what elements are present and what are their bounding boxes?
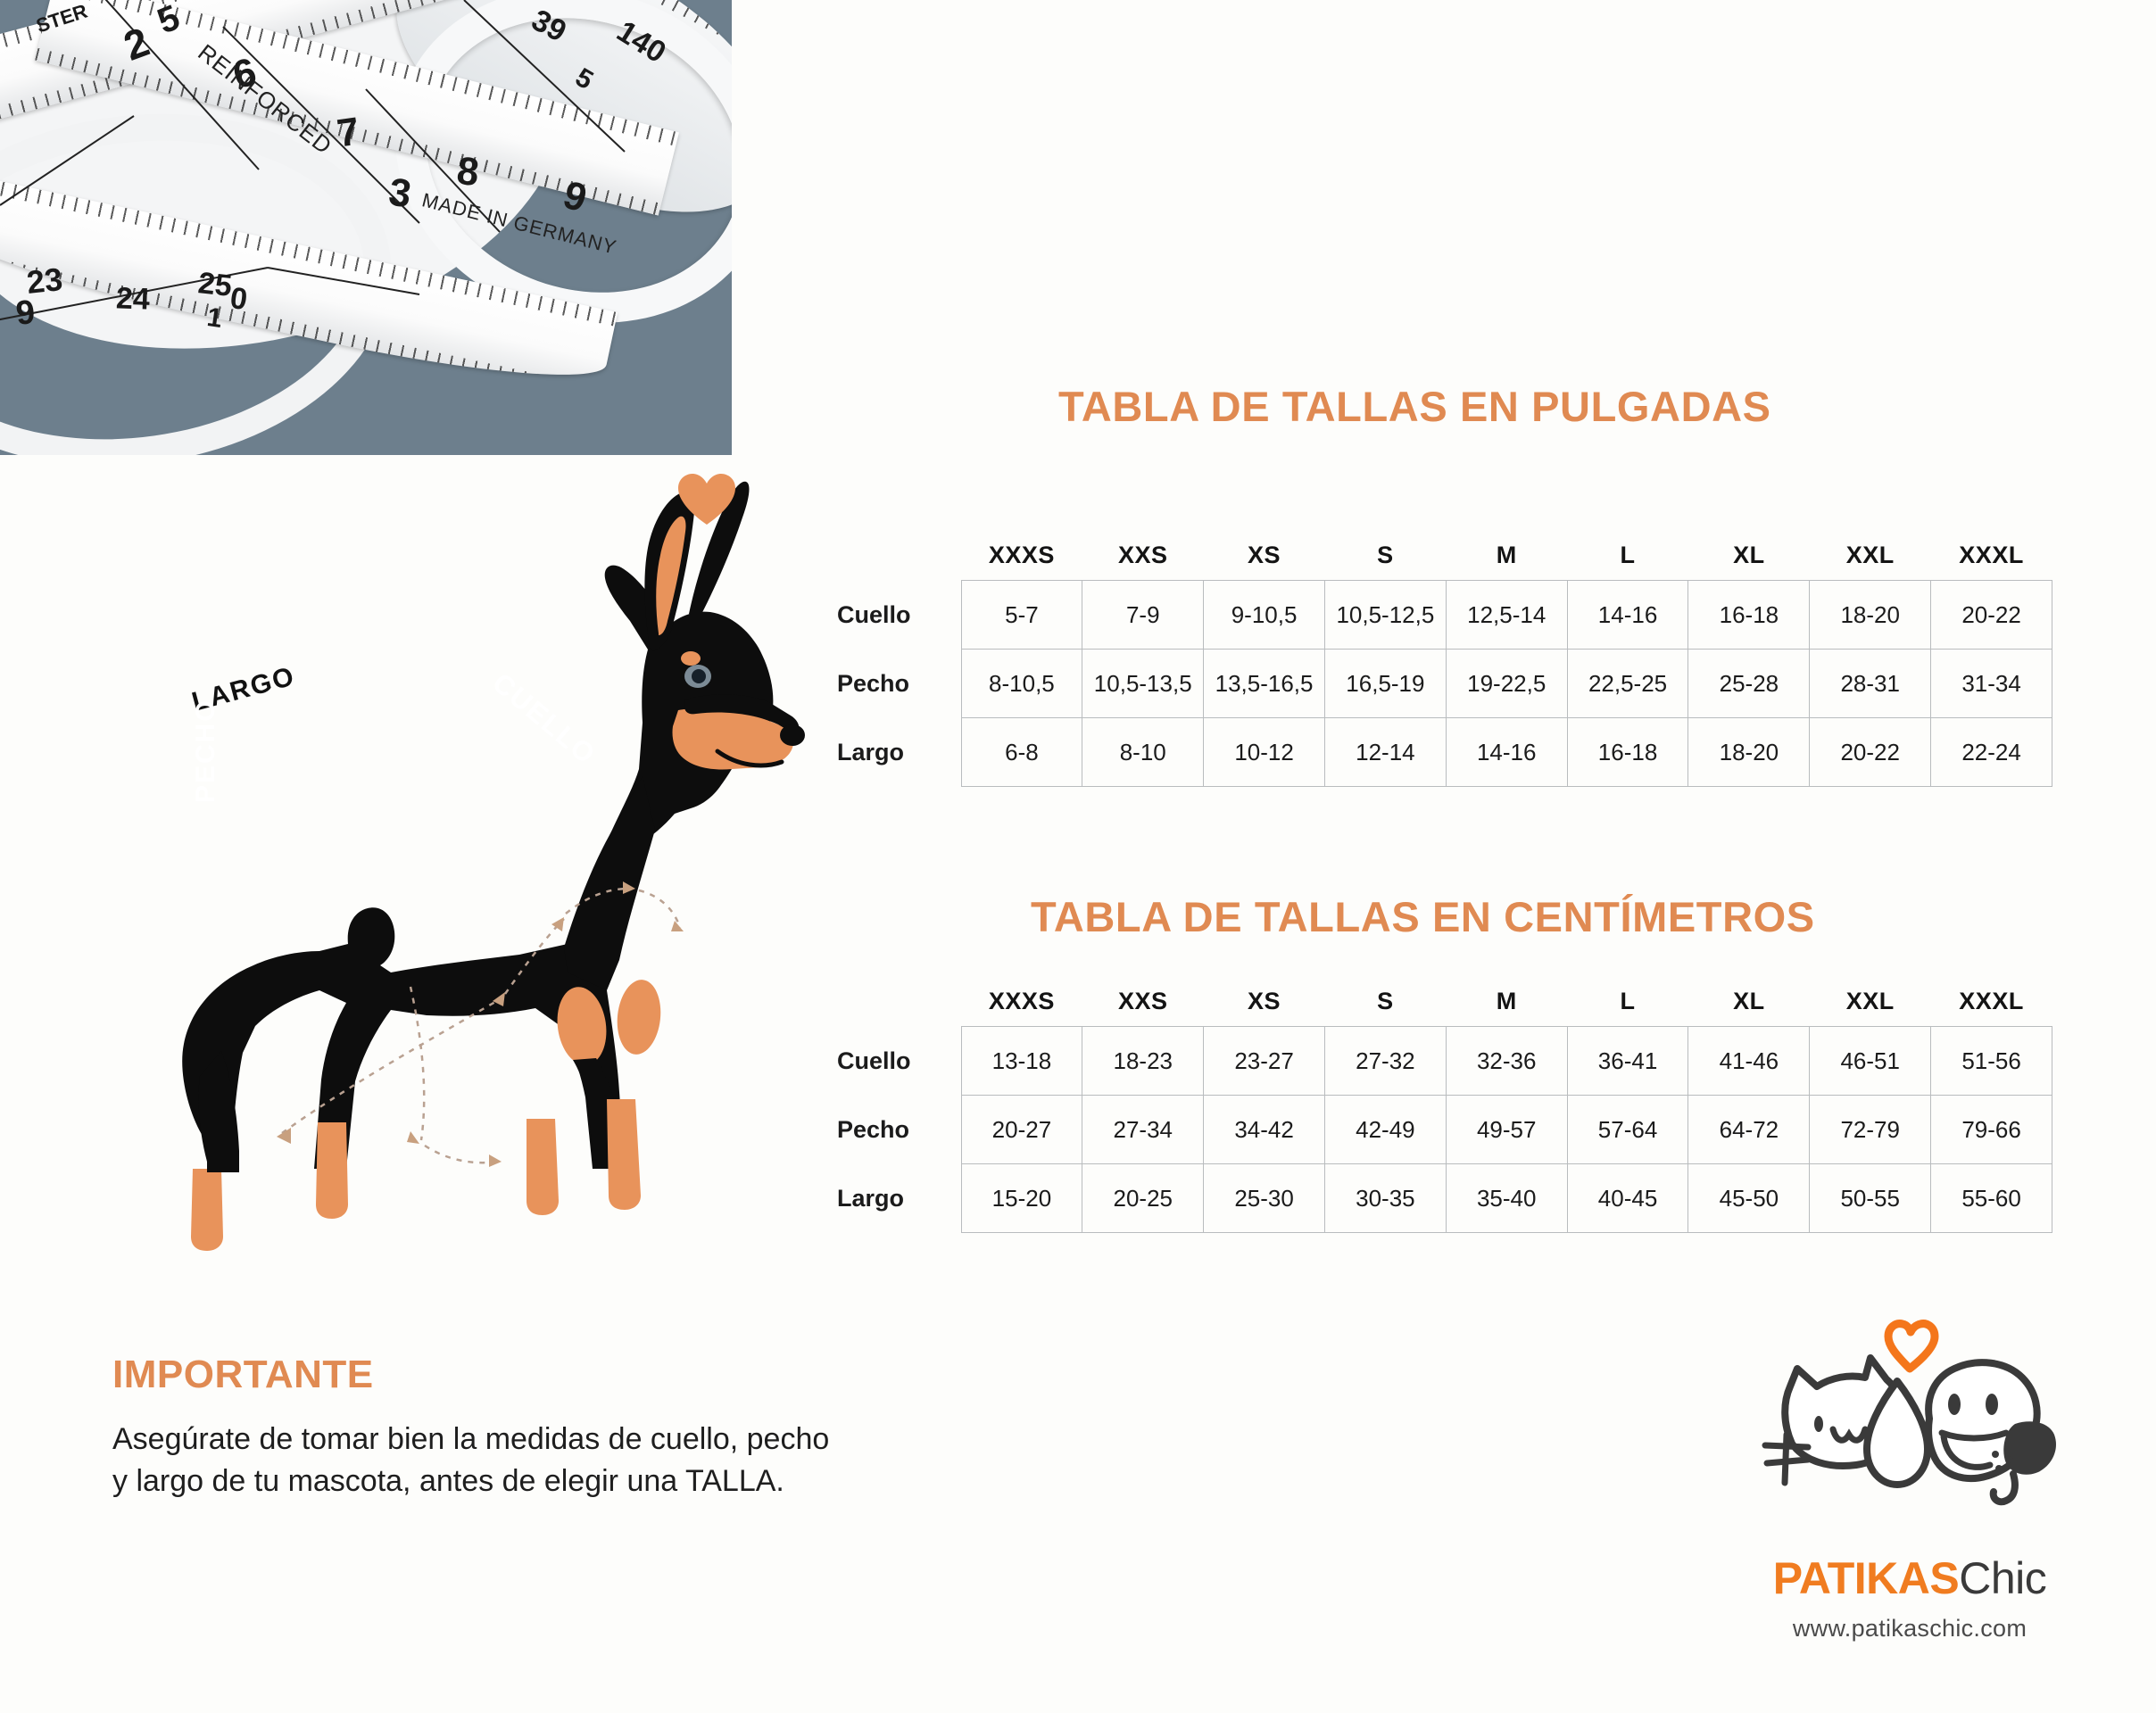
row-label-largo: Largo — [830, 718, 961, 787]
column-header-xxs: XXS — [1082, 535, 1204, 581]
inches-size-table: XXXS XXS XS S M L XL XXL XXXL Cuello 5-7… — [830, 535, 2052, 787]
table-cell: 31-34 — [1931, 650, 2052, 718]
column-header-l: L — [1567, 981, 1688, 1027]
important-heading: IMPORTANTE — [112, 1353, 374, 1397]
table-cell: 20-22 — [1810, 718, 1931, 787]
size-chart-infographic: STER 2 5 6 7 3 8 9 23 9 24 25 0 1 39 140… — [0, 0, 2156, 1713]
column-header-m: M — [1446, 535, 1567, 581]
table-cell: 28-31 — [1810, 650, 1931, 718]
centimeters-table-body: Cuello 13-18 18-23 23-27 27-32 32-36 36-… — [830, 1027, 2052, 1233]
dog-logo-eye-right — [1986, 1394, 1998, 1415]
row-label-pecho: Pecho — [830, 650, 961, 718]
table-cell: 55-60 — [1931, 1164, 2052, 1233]
cat-dog-logo-icon — [1731, 1312, 2088, 1552]
table-cell: 41-46 — [1688, 1027, 1810, 1096]
brand-website-url: www.patikaschic.com — [1722, 1615, 2097, 1643]
inches-table-body: Cuello 5-7 7-9 9-10,5 10,5-12,5 12,5-14 … — [830, 581, 2052, 787]
doberman-illustration — [107, 455, 839, 1258]
column-header-xs: XS — [1204, 981, 1325, 1027]
table-cell: 64-72 — [1688, 1096, 1810, 1164]
column-header-xxxl: XXXL — [1931, 535, 2052, 581]
table-cell: 18-20 — [1688, 718, 1810, 787]
table-cell: 57-64 — [1567, 1096, 1688, 1164]
table-cell: 20-22 — [1931, 581, 2052, 650]
brand-logo: PATIKASChic www.patikaschic.com — [1722, 1312, 2097, 1643]
column-header-xxl: XXL — [1810, 981, 1931, 1027]
tape-guide-lines — [0, 0, 732, 455]
table-row: Largo 15-20 20-25 25-30 30-35 35-40 40-4… — [830, 1164, 2052, 1233]
tape-number: 24 — [115, 281, 150, 317]
table-cell: 18-23 — [1082, 1027, 1204, 1096]
table-cell: 25-30 — [1204, 1164, 1325, 1233]
table-cell: 13,5-16,5 — [1204, 650, 1325, 718]
column-header-xxl: XXL — [1810, 535, 1931, 581]
centimeters-table-header: XXXS XXS XS S M L XL XXL XXXL — [830, 981, 2052, 1027]
table-cell: 12,5-14 — [1446, 581, 1567, 650]
table-corner-cell — [830, 981, 961, 1027]
dog-paw-rear-left — [191, 1169, 223, 1251]
dog-ear-patch — [2003, 1421, 2056, 1474]
row-label-cuello: Cuello — [830, 581, 961, 650]
table-cell: 27-32 — [1324, 1027, 1446, 1096]
table-cell: 15-20 — [961, 1164, 1082, 1233]
table-header-row: XXXS XXS XS S M L XL XXL XXXL — [830, 981, 2052, 1027]
table-cell: 18-20 — [1810, 581, 1931, 650]
table-cell: 14-16 — [1567, 581, 1688, 650]
table-cell: 23-27 — [1204, 1027, 1325, 1096]
table-row: Pecho 8-10,5 10,5-13,5 13,5-16,5 16,5-19… — [830, 650, 2052, 718]
table-cell: 16,5-19 — [1324, 650, 1446, 718]
dog-spot — [1995, 1465, 2003, 1472]
table-cell: 10,5-12,5 — [1324, 581, 1446, 650]
dog-logo-eye-left — [1948, 1394, 1961, 1415]
dog-chest-marking-right — [614, 978, 665, 1057]
measure-label-pecho: PECHO — [191, 699, 221, 803]
table-cell: 79-66 — [1931, 1096, 2052, 1164]
table-header-row: XXXS XXS XS S M L XL XXL XXXL — [830, 535, 2052, 581]
table-cell: 32-36 — [1446, 1027, 1567, 1096]
table-cell: 20-25 — [1082, 1164, 1204, 1233]
table-cell: 50-55 — [1810, 1164, 1931, 1233]
table-cell: 40-45 — [1567, 1164, 1688, 1233]
tape-number: 8 — [454, 149, 481, 195]
column-header-xxxl: XXXL — [1931, 981, 2052, 1027]
inches-table-grid: XXXS XXS XS S M L XL XXL XXXL Cuello 5-7… — [830, 535, 2052, 787]
table-row: Cuello 5-7 7-9 9-10,5 10,5-12,5 12,5-14 … — [830, 581, 2052, 650]
inches-table-header: XXXS XXS XS S M L XL XXL XXXL — [830, 535, 2052, 581]
row-label-pecho: Pecho — [830, 1096, 961, 1164]
dog-paw-front-right — [607, 1099, 641, 1210]
table-cell: 12-14 — [1324, 718, 1446, 787]
centimeters-size-table: XXXS XXS XS S M L XL XXL XXXL Cuello 13-… — [830, 981, 2052, 1233]
heart-icon — [678, 473, 735, 530]
table-cell: 51-56 — [1931, 1027, 2052, 1096]
column-header-xl: XL — [1688, 535, 1810, 581]
dog-spot — [1992, 1451, 1999, 1458]
row-label-cuello: Cuello — [830, 1027, 961, 1096]
table-cell: 9-10,5 — [1204, 581, 1325, 650]
table-row: Cuello 13-18 18-23 23-27 27-32 32-36 36-… — [830, 1027, 2052, 1096]
table-cell: 22,5-25 — [1567, 650, 1688, 718]
table-cell: 49-57 — [1446, 1096, 1567, 1164]
table-cell: 72-79 — [1810, 1096, 1931, 1164]
inches-table-title: TABLA DE TALLAS EN PULGADAS — [1058, 382, 1771, 431]
table-cell: 25-28 — [1688, 650, 1810, 718]
important-text: Asegúrate de tomar bien la medidas de cu… — [112, 1419, 1005, 1502]
important-text-line-2: y largo de tu mascota, antes de elegir u… — [112, 1461, 1005, 1502]
table-cell: 34-42 — [1204, 1096, 1325, 1164]
table-cell: 22-24 — [1931, 718, 2052, 787]
table-cell: 16-18 — [1688, 581, 1810, 650]
table-cell: 36-41 — [1567, 1027, 1688, 1096]
table-cell: 16-18 — [1567, 718, 1688, 787]
table-cell: 5-7 — [961, 581, 1082, 650]
column-header-s: S — [1324, 981, 1446, 1027]
table-cell: 10,5-13,5 — [1082, 650, 1204, 718]
table-cell: 8-10 — [1082, 718, 1204, 787]
table-cell: 6-8 — [961, 718, 1082, 787]
centimeters-table-grid: XXXS XXS XS S M L XL XXL XXXL Cuello 13-… — [830, 981, 2052, 1233]
heart-outline-icon — [1888, 1324, 1935, 1369]
table-cell: 45-50 — [1688, 1164, 1810, 1233]
dog-spot — [2006, 1456, 2013, 1463]
table-cell: 46-51 — [1810, 1027, 1931, 1096]
dog-paw-rear-right — [316, 1122, 348, 1219]
important-text-line-1: Asegúrate de tomar bien la medidas de cu… — [112, 1419, 1005, 1461]
column-header-m: M — [1446, 981, 1567, 1027]
dog-tongue-icon — [1994, 1474, 2015, 1502]
table-cell: 7-9 — [1082, 581, 1204, 650]
dog-nose — [780, 724, 805, 746]
table-cell: 19-22,5 — [1446, 650, 1567, 718]
measuring-tape-photo: STER 2 5 6 7 3 8 9 23 9 24 25 0 1 39 140… — [0, 0, 732, 455]
column-header-xxxs: XXXS — [961, 535, 1082, 581]
table-cell: 14-16 — [1446, 718, 1567, 787]
tape-number: 9 — [14, 294, 37, 334]
table-row: Pecho 20-27 27-34 34-42 42-49 49-57 57-6… — [830, 1096, 2052, 1164]
table-cell: 8-10,5 — [961, 650, 1082, 718]
table-cell: 20-27 — [961, 1096, 1082, 1164]
table-cell: 42-49 — [1324, 1096, 1446, 1164]
dog-paw-front-left — [527, 1119, 559, 1215]
column-header-xxs: XXS — [1082, 981, 1204, 1027]
tape-number: 25 — [196, 266, 234, 304]
column-header-l: L — [1567, 535, 1688, 581]
dog-eye-pupil — [692, 669, 706, 683]
dog-neck — [564, 776, 655, 990]
table-corner-cell — [830, 535, 961, 581]
table-cell: 10-12 — [1204, 718, 1325, 787]
centimeters-table-title: TABLA DE TALLAS EN CENTÍMETROS — [1031, 892, 1815, 941]
table-cell: 13-18 — [961, 1027, 1082, 1096]
column-header-xs: XS — [1204, 535, 1325, 581]
column-header-xxxs: XXXS — [961, 981, 1082, 1027]
cat-eye-left — [1814, 1416, 1823, 1432]
table-cell: 27-34 — [1082, 1096, 1204, 1164]
brand-name-patikas: PATIKAS — [1773, 1553, 1960, 1603]
column-header-s: S — [1324, 535, 1446, 581]
table-cell: 30-35 — [1324, 1164, 1446, 1233]
brand-name-chic: Chic — [1959, 1553, 2046, 1603]
table-cell: 35-40 — [1446, 1164, 1567, 1233]
dog-eyebrow-marking — [681, 651, 701, 666]
brand-wordmark: PATIKASChic — [1722, 1556, 2097, 1601]
table-row: Largo 6-8 8-10 10-12 12-14 14-16 16-18 1… — [830, 718, 2052, 787]
column-header-xl: XL — [1688, 981, 1810, 1027]
row-label-largo: Largo — [830, 1164, 961, 1233]
